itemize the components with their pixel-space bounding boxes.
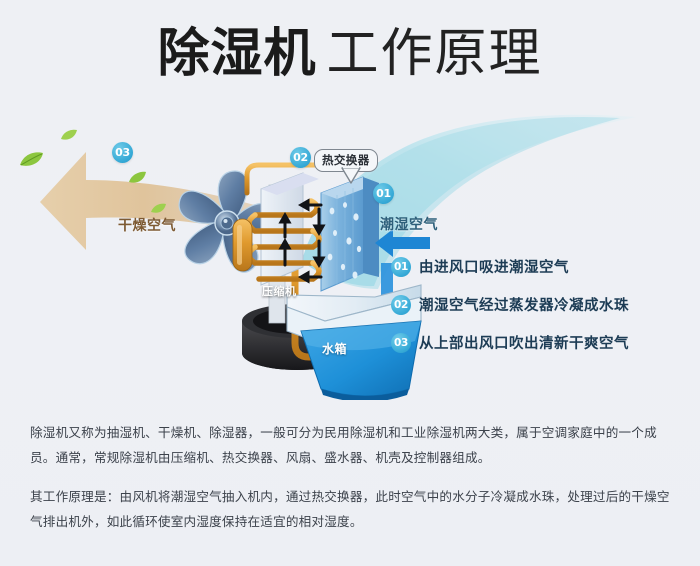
step-text-02: 潮湿空气经过蒸发器冷凝成水珠 [419,294,629,315]
step-text-01: 由进风口吸进潮湿空气 [419,256,569,277]
callout-tail-icon [340,167,362,185]
body-copy: 除湿机又称为抽湿机、干燥机、除湿器，一般可分为民用除湿机和工业除湿机两大类，属于… [30,420,675,534]
title-light-part: 工作原理 [327,24,543,84]
compressor-label: 压缩机 [262,283,297,299]
infographic-page: 除湿机工作原理 [0,0,700,566]
body-paragraph-2: 其工作原理是：由风机将潮湿空气抽入机内，通过热交换器，此时空气中的水分子冷凝成水… [30,484,675,534]
page-title: 除湿机工作原理 [0,28,700,80]
humid-air-label: 潮湿空气 [380,214,438,234]
art-badge-03: 03 [112,142,133,163]
leaf-icon [128,171,147,185]
step-item-01: 01 由进风口吸进潮湿空气 [391,256,691,277]
heat-exchanger-callout: 热交换器 [314,149,378,172]
leaf-icon [60,129,78,142]
body-paragraph-1: 除湿机又称为抽湿机、干燥机、除湿器，一般可分为民用除湿机和工业除湿机两大类，属于… [30,420,675,470]
art-badge-01: 01 [373,183,394,204]
step-list: 01 由进风口吸进潮湿空气 02 潮湿空气经过蒸发器冷凝成水珠 03 从上部出风… [391,256,691,370]
leaf-icon [18,151,44,169]
leaf-icon [150,203,167,215]
step-badge-03: 03 [391,333,411,353]
art-badge-02: 02 [290,147,311,168]
step-badge-02: 02 [391,295,411,315]
dry-air-label: 干燥空气 [118,215,176,235]
water-tank-label: 水箱 [322,340,347,357]
title-bold-part: 除湿机 [157,24,316,84]
step-item-03: 03 从上部出风口吹出清新干爽空气 [391,332,691,353]
step-text-03: 从上部出风口吹出清新干爽空气 [419,332,629,353]
step-item-02: 02 潮湿空气经过蒸发器冷凝成水珠 [391,294,691,315]
step-badge-01: 01 [391,257,411,277]
